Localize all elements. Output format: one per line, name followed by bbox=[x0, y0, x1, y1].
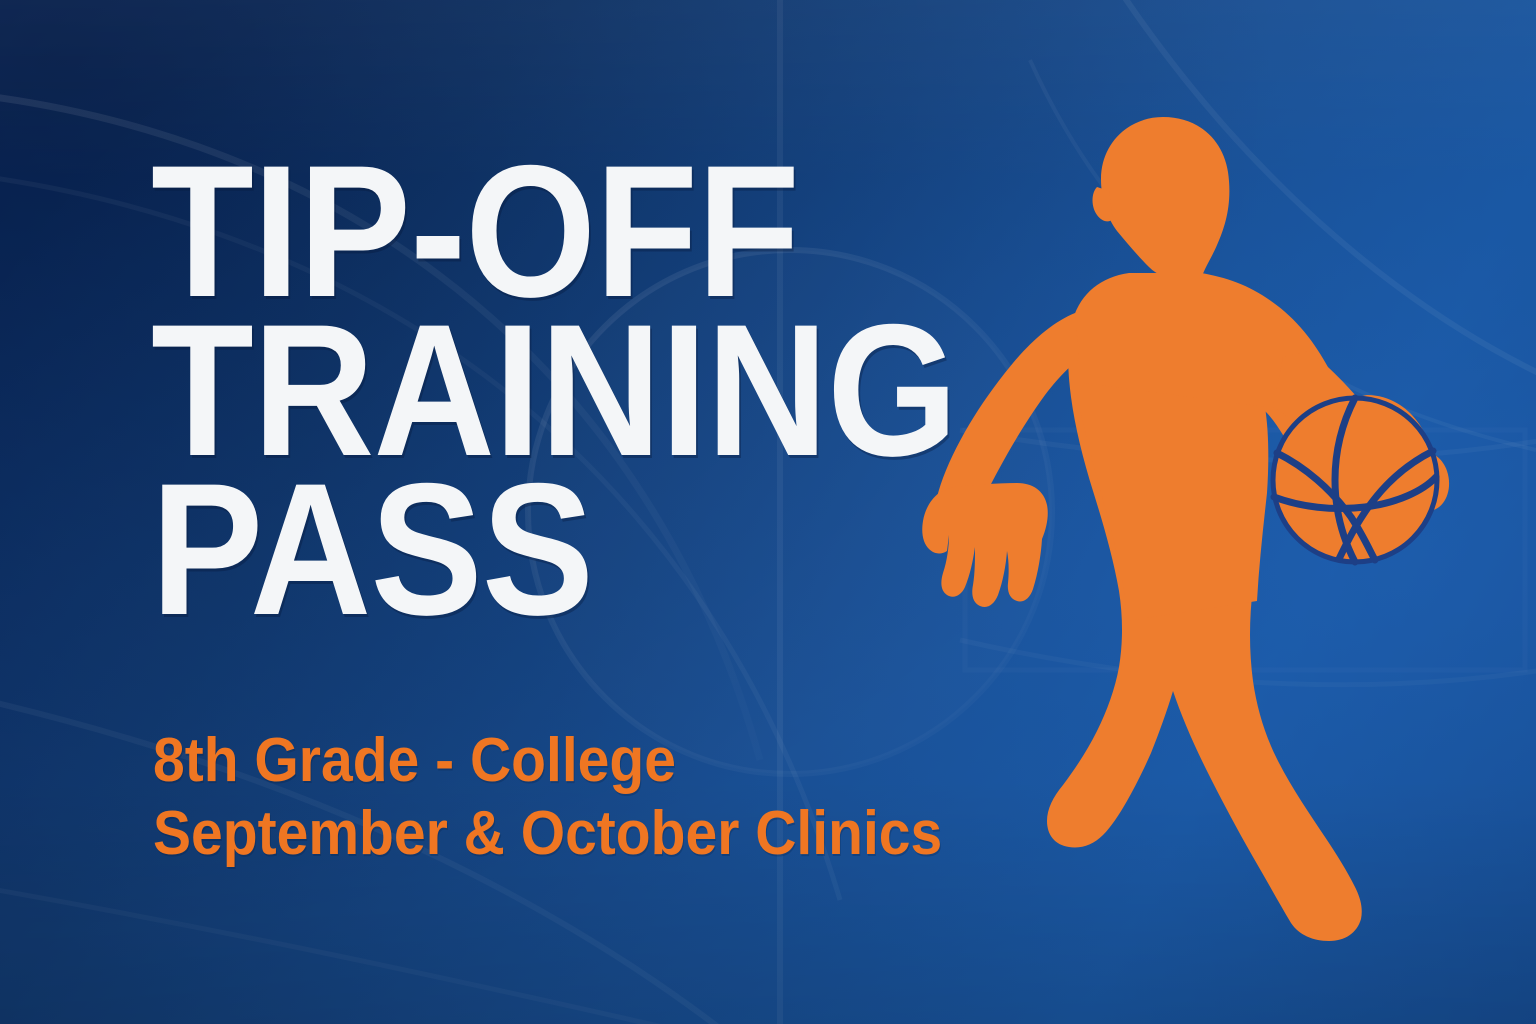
basketball-icon bbox=[1273, 398, 1437, 562]
headline-line-3: PASS bbox=[151, 470, 885, 629]
subtitle-line-2: September & October Clinics bbox=[153, 797, 999, 870]
subtitle-line-1: 8th Grade - College bbox=[153, 724, 999, 797]
poster-canvas: TIP-OFF TRAINING PASS 8th Grade - Colleg… bbox=[0, 0, 1536, 1024]
page-title: TIP-OFF TRAINING PASS bbox=[151, 152, 971, 629]
basketball-player-icon bbox=[905, 95, 1525, 955]
